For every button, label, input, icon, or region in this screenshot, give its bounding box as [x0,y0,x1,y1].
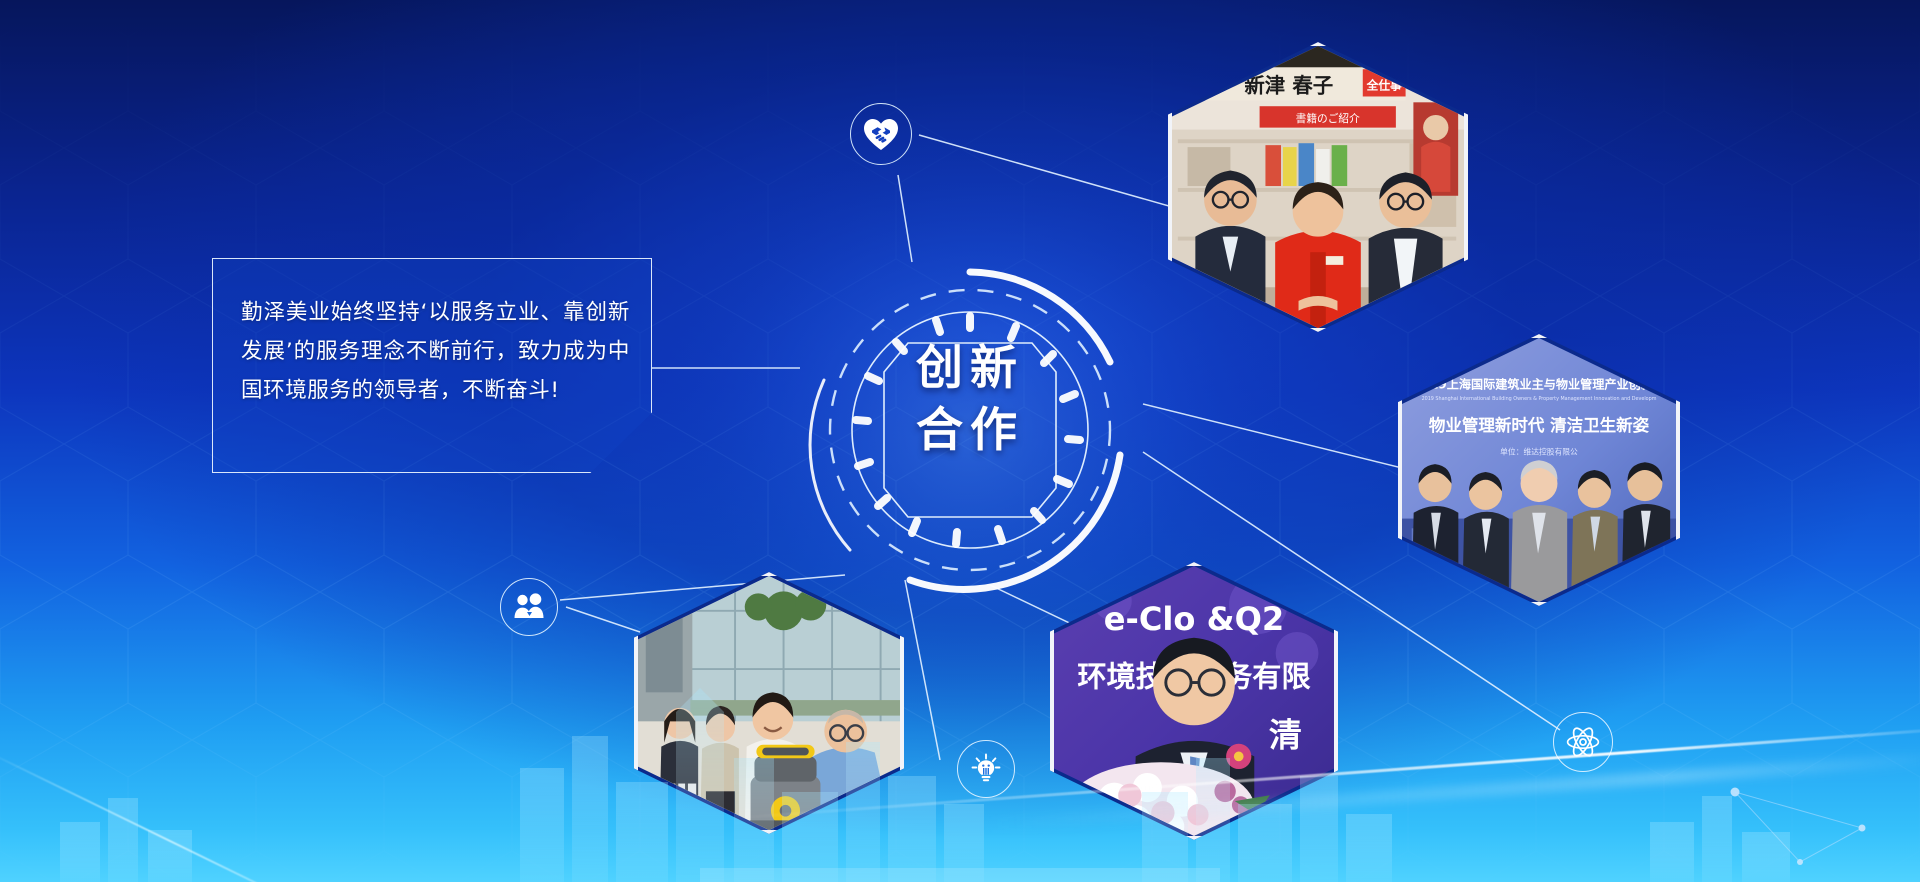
banner-stage: 勤泽美业始终坚持‘以服务立业、靠创新发展’的服务理念不断前行，致力成为中国环境服… [0,0,1920,882]
hub-label: 创新 合作 [790,338,1150,462]
photo-frame [1398,334,1680,606]
people-pair-bubble[interactable] [500,578,558,636]
photo-bookstore-visit[interactable]: 新津 春子 全仕事 書籍のご紹介 [1168,42,1468,332]
handshake-heart-bubble[interactable] [850,103,912,165]
photo-industry-forum[interactable]: 2019上海国际建筑业主与物业管理产业创新发 2019 Shanghai Int… [1398,334,1680,606]
hub-label-line1: 创新 [790,338,1150,400]
hub-label-line2: 合作 [790,400,1150,462]
people-pair-icon [513,593,545,621]
atom-bubble[interactable] [1553,712,1613,772]
central-hub: 创新 合作 [790,250,1150,610]
photo-equipment-training[interactable] [634,572,904,834]
lightbulb-icon [970,753,1002,785]
callout-text: 勤泽美业始终坚持‘以服务立业、靠创新发展’的服务理念不断前行，致力成为中国环境服… [241,293,630,410]
photo-frame [634,572,904,834]
light-streak-left [0,748,359,882]
handshake-heart-icon [863,117,899,151]
lightbulb-bubble[interactable] [957,740,1015,798]
mission-callout: 勤泽美业始终坚持‘以服务立业、靠创新发展’的服务理念不断前行，致力成为中国环境服… [212,258,652,473]
photo-frame [1168,42,1468,332]
